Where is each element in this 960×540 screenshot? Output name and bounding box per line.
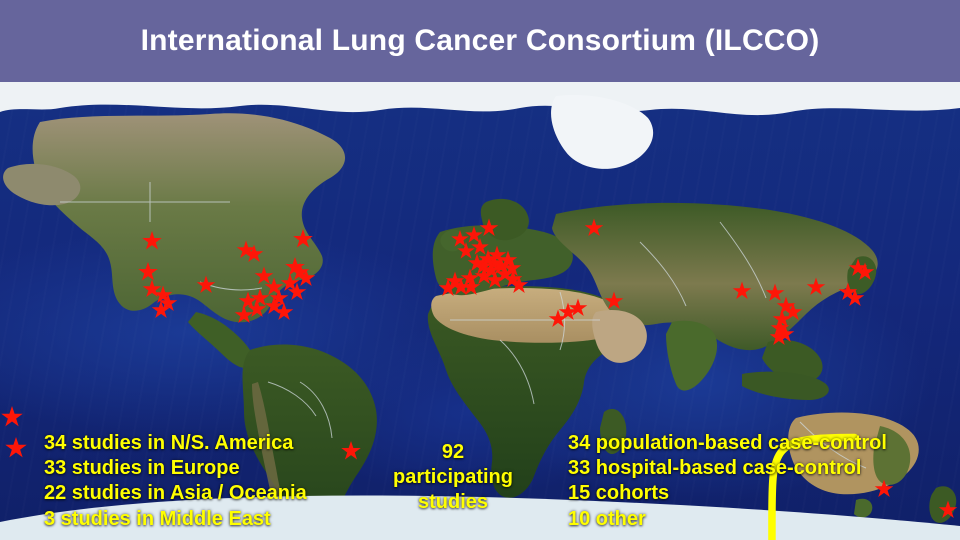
design-line-3: 15 cohorts <box>568 481 887 506</box>
studies-by-region-block: 34 studies in N/S. America 33 studies in… <box>44 431 307 532</box>
design-line-4: 10 other <box>568 507 887 532</box>
total-label-2: studies <box>383 490 523 515</box>
world-map: 34 studies in N/S. America 33 studies in… <box>0 82 960 540</box>
arctic-ice <box>0 82 960 115</box>
design-line-2: 33 hospital-based case-control <box>568 456 887 481</box>
region-line-4: 3 studies in Middle East <box>44 507 307 532</box>
region-line-3: 22 studies in Asia / Oceania <box>44 481 307 506</box>
slide-root: International Lung Cancer Consortium (IL… <box>0 0 960 540</box>
design-line-1: 34 population-based case-control <box>568 431 887 456</box>
india <box>666 321 717 391</box>
region-line-1: 34 studies in N/S. America <box>44 431 307 456</box>
region-line-2: 33 studies in Europe <box>44 456 307 481</box>
total-label-1: participating <box>383 465 523 490</box>
slide-header: International Lung Cancer Consortium (IL… <box>0 0 960 82</box>
studies-by-design-block: 34 population-based case-control 33 hosp… <box>568 431 887 532</box>
total-studies-block: 92 participating studies <box>383 440 523 516</box>
total-count: 92 <box>383 440 523 465</box>
page-title: International Lung Cancer Consortium (IL… <box>141 24 820 58</box>
